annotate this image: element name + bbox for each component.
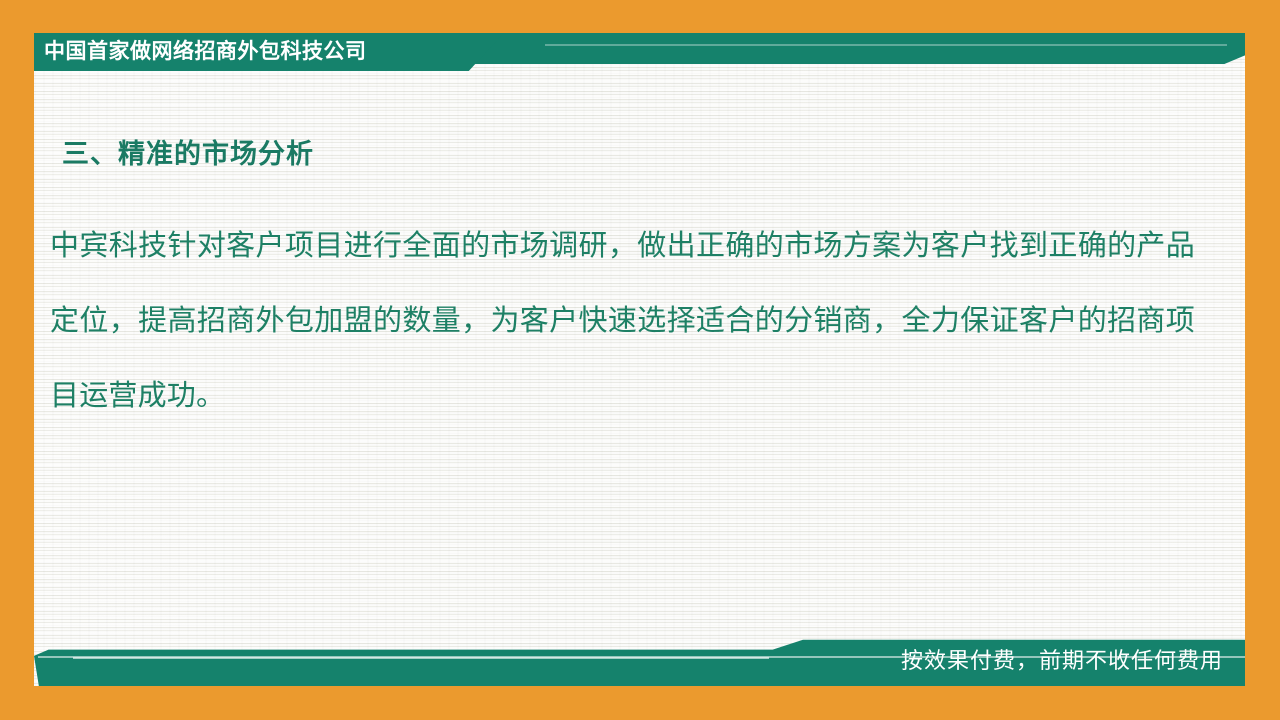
section-heading: 三、精准的市场分析 bbox=[62, 132, 314, 171]
slide-header: 中国首家做网络招商外包科技公司 bbox=[34, 33, 1245, 73]
header-divider-line bbox=[545, 44, 1227, 46]
body-paragraph: 中宾科技针对客户项目进行全面的市场调研，做出正确的市场方案为客户找到正确的产品定… bbox=[50, 208, 1195, 433]
footer-slogan-text: 按效果付费，前期不收任何费用 bbox=[901, 649, 1223, 675]
header-title-block: 中国首家做网络招商外包科技公司 bbox=[34, 33, 504, 71]
footer-accent-line bbox=[73, 657, 769, 659]
slide-footer: 按效果付费，前期不收任何费用 bbox=[34, 634, 1245, 686]
slide: 中国首家做网络招商外包科技公司 三、精准的市场分析 中宾科技针对客户项目进行全面… bbox=[0, 0, 1280, 720]
header-title-text: 中国首家做网络招商外包科技公司 bbox=[34, 41, 367, 62]
slide-body: 三、精准的市场分析 中宾科技针对客户项目进行全面的市场调研，做出正确的市场方案为… bbox=[34, 100, 1245, 620]
